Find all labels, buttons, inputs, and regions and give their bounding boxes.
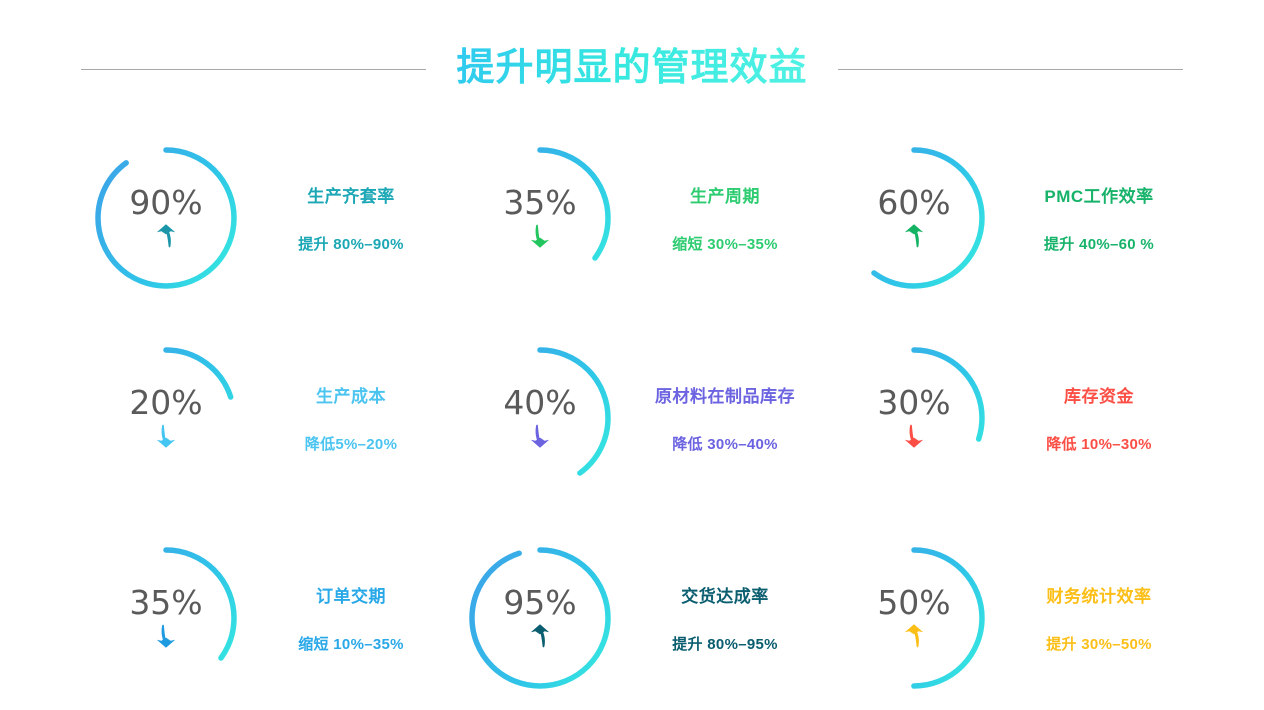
ring-value: 35% <box>129 586 202 619</box>
trend-down-icon <box>155 622 177 650</box>
header-rule-right <box>838 69 1183 70</box>
ring-value: 40% <box>503 386 576 419</box>
trend-up-icon <box>903 222 925 250</box>
metric-subtitle: 提升 80%–95% <box>672 633 778 654</box>
metric-text: 生产周期缩短 30%–35% <box>630 182 820 254</box>
ring-center: 40% <box>460 338 620 498</box>
metric-subtitle: 降低 10%–30% <box>1046 433 1152 454</box>
metric-subtitle: 降低 30%–40% <box>672 433 778 454</box>
progress-ring: 50% <box>834 538 994 698</box>
ring-center: 90% <box>86 138 246 298</box>
page-title: 提升明显的管理效益 <box>450 44 813 94</box>
trend-down-icon <box>155 422 177 450</box>
ring-value: 60% <box>877 186 950 219</box>
metric-card: 90%生产齐套率提升 80%–90% <box>72 118 446 318</box>
metric-title: 生产成本 <box>316 382 386 407</box>
trend-down-icon <box>903 422 925 450</box>
header-rule-left <box>81 69 426 70</box>
metric-subtitle: 提升 40%–60 % <box>1044 233 1154 254</box>
progress-ring: 90% <box>86 138 246 298</box>
metric-text: PMC工作效率提升 40%–60 % <box>1004 182 1194 254</box>
slide-header: 提升明显的管理效益 <box>0 38 1264 100</box>
progress-ring: 35% <box>86 538 246 698</box>
metric-title: 生产齐套率 <box>307 182 395 207</box>
metric-text: 交货达成率提升 80%–95% <box>630 582 820 654</box>
metric-text: 库存资金降低 10%–30% <box>1004 382 1194 454</box>
ring-value: 20% <box>129 386 202 419</box>
metric-title: 库存资金 <box>1064 382 1134 407</box>
ring-center: 60% <box>834 138 994 298</box>
metric-card: 40%原材料在制品库存降低 30%–40% <box>446 318 820 518</box>
ring-value: 90% <box>129 186 202 219</box>
metric-card: 30%库存资金降低 10%–30% <box>820 318 1194 518</box>
ring-center: 35% <box>86 538 246 698</box>
metric-title: 交货达成率 <box>681 582 769 607</box>
metric-text: 订单交期缩短 10%–35% <box>256 582 446 654</box>
metric-subtitle: 提升 30%–50% <box>1046 633 1152 654</box>
metric-title: 原材料在制品库存 <box>655 382 795 407</box>
metric-subtitle: 降低5%–20% <box>305 433 397 454</box>
ring-value: 35% <box>503 186 576 219</box>
ring-center: 50% <box>834 538 994 698</box>
ring-center: 35% <box>460 138 620 298</box>
metric-title: PMC工作效率 <box>1044 182 1153 207</box>
metric-text: 财务统计效率提升 30%–50% <box>1004 582 1194 654</box>
ring-center: 95% <box>460 538 620 698</box>
metric-card: 20%生产成本降低5%–20% <box>72 318 446 518</box>
metric-subtitle: 缩短 10%–35% <box>298 633 404 654</box>
metric-text: 生产齐套率提升 80%–90% <box>256 182 446 254</box>
ring-value: 95% <box>503 586 576 619</box>
metric-subtitle: 缩短 30%–35% <box>672 233 778 254</box>
metric-title: 订单交期 <box>316 582 386 607</box>
progress-ring: 40% <box>460 338 620 498</box>
slide-canvas: 提升明显的管理效益 90%生产齐套率提升 80%–90%35%生产周期缩短 30… <box>0 0 1264 710</box>
metric-card: 35%订单交期缩短 10%–35% <box>72 518 446 710</box>
metric-card: 35%生产周期缩短 30%–35% <box>446 118 820 318</box>
trend-down-icon <box>529 222 551 250</box>
progress-ring: 95% <box>460 538 620 698</box>
metric-title: 生产周期 <box>690 182 760 207</box>
ring-value: 50% <box>877 586 950 619</box>
metric-subtitle: 提升 80%–90% <box>298 233 404 254</box>
trend-up-icon <box>903 622 925 650</box>
ring-center: 30% <box>834 338 994 498</box>
ring-center: 20% <box>86 338 246 498</box>
progress-ring: 30% <box>834 338 994 498</box>
trend-down-icon <box>529 422 551 450</box>
metric-card: 95%交货达成率提升 80%–95% <box>446 518 820 710</box>
progress-ring: 35% <box>460 138 620 298</box>
progress-ring: 20% <box>86 338 246 498</box>
metric-card: 50%财务统计效率提升 30%–50% <box>820 518 1194 710</box>
trend-up-icon <box>529 622 551 650</box>
metric-text: 原材料在制品库存降低 30%–40% <box>630 382 820 454</box>
ring-value: 30% <box>877 386 950 419</box>
progress-ring: 60% <box>834 138 994 298</box>
metric-card: 60%PMC工作效率提升 40%–60 % <box>820 118 1194 318</box>
metric-text: 生产成本降低5%–20% <box>256 382 446 454</box>
trend-up-icon <box>155 222 177 250</box>
metric-title: 财务统计效率 <box>1047 582 1152 607</box>
metric-grid: 90%生产齐套率提升 80%–90%35%生产周期缩短 30%–35%60%PM… <box>72 118 1192 710</box>
